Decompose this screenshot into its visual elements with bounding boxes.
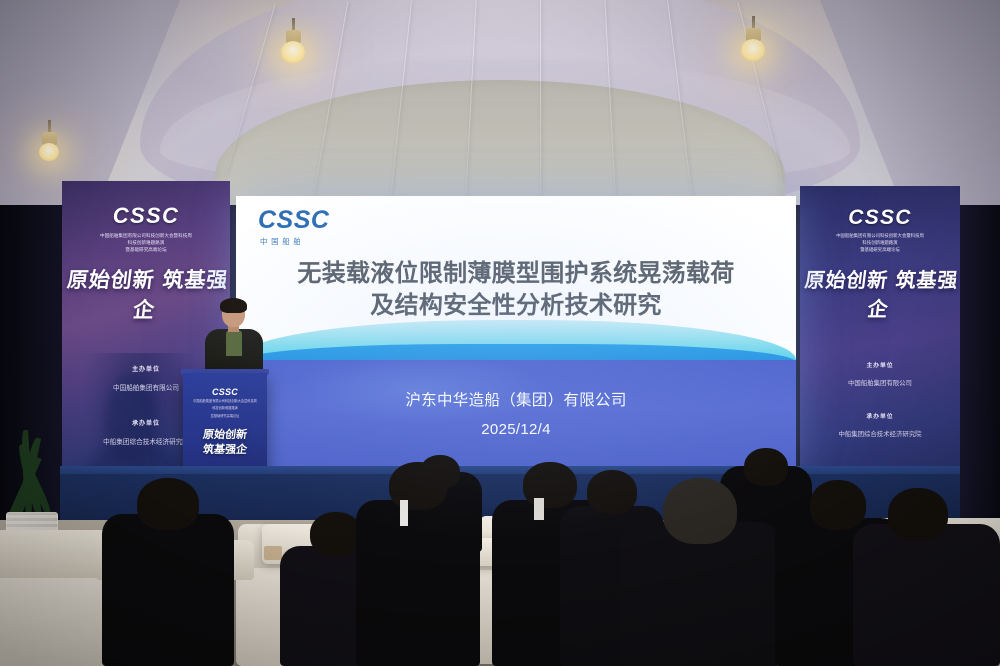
banner-left-organizer-value: 中船集团综合技术经济研究院 <box>103 436 189 446</box>
shirt-collar <box>400 500 408 526</box>
banner-left-host-value: 中国船舶集团有限公司 <box>113 382 179 392</box>
slide-footer: 沪东中华造船（集团）有限公司 2025/12/4 <box>236 388 796 438</box>
slide-date: 2025/12/4 <box>236 421 796 438</box>
banner-right-host-label: 主办单位 <box>867 360 894 369</box>
banner-right-logo: CSSC <box>848 206 911 230</box>
speaker-hair <box>220 298 247 313</box>
projection-screen: CSSC 中国船舶 无装载液位限制薄膜型围护系统晃荡载荷 及结构安全性分析技术研… <box>236 196 796 474</box>
cup <box>264 546 282 560</box>
cssc-logo-mark: CSSC <box>258 208 329 233</box>
banner-right-slogan: 原始创新 筑基强企 <box>800 264 960 322</box>
podium-subtitle-3: 暨基础研究高端论坛 <box>183 414 267 419</box>
banner-right-subtitle-2: 科技创新难题路演 <box>862 240 897 247</box>
podium-slogan-line-2: 筑基强企 <box>183 443 267 457</box>
shirt-collar <box>534 498 544 520</box>
speaker-shirt <box>226 330 242 356</box>
cssc-logo-chinese: 中国船舶 <box>260 236 304 247</box>
banner-right-host-value: 中国船舶集团有限公司 <box>848 378 912 387</box>
banner-left-host-label: 主办单位 <box>132 364 160 373</box>
speaker <box>205 300 263 378</box>
banner-right-subtitle-1: 中国船舶集团有限公司科技创新大会暨科技周 <box>836 233 924 240</box>
lamp-bulb <box>281 41 305 63</box>
banner-left-logo: CSSC <box>113 203 179 229</box>
banner-left-subtitle-1: 中国船舶集团有限公司科技创新大会暨科技周 <box>100 232 192 239</box>
podium-subtitle-2: 科技创新难题路演 <box>183 406 267 411</box>
slide-organization: 沪东中华造船（集团）有限公司 <box>236 388 796 410</box>
banner-right-subtitle-3: 暨基础研究高端论坛 <box>860 247 900 254</box>
podium-logo: CSSC <box>183 387 267 397</box>
banner-left-subtitle-3: 暨基础研究高端论坛 <box>125 246 166 253</box>
pendant-lamp-left <box>38 120 60 166</box>
pendant-lamp-center-right <box>742 16 764 66</box>
banner-left-organizer-label: 承办单位 <box>132 418 160 427</box>
lamp-bulb <box>741 39 765 61</box>
cssc-logo: CSSC 中国船舶 <box>258 208 329 247</box>
slide-title: 无装载液位限制薄膜型围护系统晃荡载荷 及结构安全性分析技术研究 <box>236 258 796 322</box>
podium-slogan-line-1: 原始创新 <box>183 428 267 442</box>
lamp-bulb <box>39 143 59 161</box>
slide-title-line-1: 无装载液位限制薄膜型围护系统晃荡载荷 <box>236 258 796 290</box>
banner-right-organizer-label: 承办单位 <box>867 411 894 420</box>
banner-right-organizer-value: 中船集团综合技术经济研究院 <box>838 429 921 438</box>
drape-pleat <box>540 0 541 215</box>
pendant-lamp-center-left <box>282 18 304 68</box>
banner-left-subtitle-2: 科技创新难题路演 <box>128 239 165 246</box>
podium-subtitle-1: 中国船舶集团有限公司科技创新大会暨科技周 <box>183 399 267 404</box>
slide-title-line-2: 及结构安全性分析技术研究 <box>236 290 796 322</box>
conference-scene: CSSC 中国船舶集团有限公司科技创新大会暨科技周 科技创新难题路演 暨基础研究… <box>0 0 1000 666</box>
